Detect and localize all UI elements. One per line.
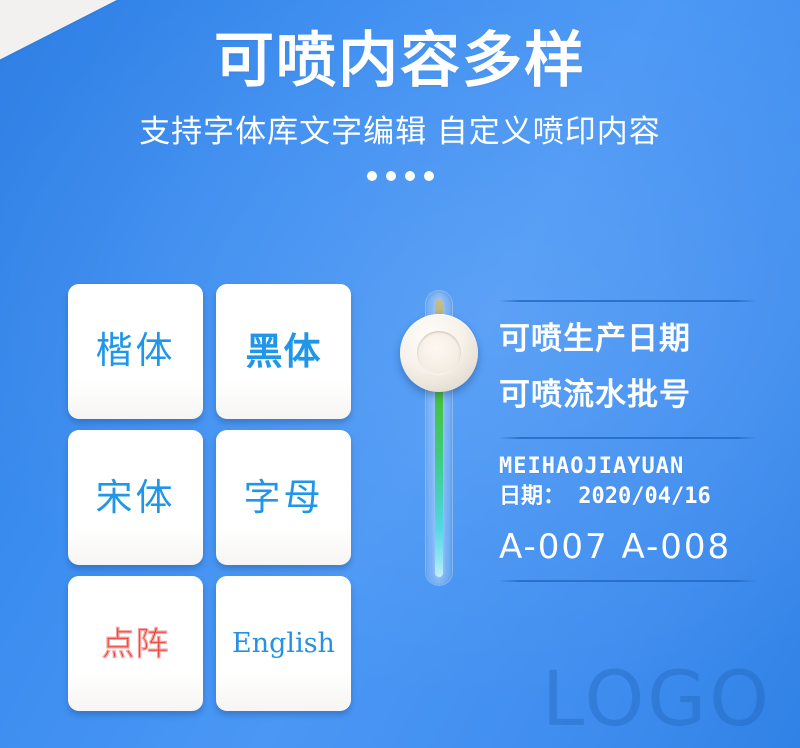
font-card-label: English [232, 630, 335, 657]
font-card-songti[interactable]: 宋体 [68, 430, 203, 565]
font-card-english[interactable]: English [216, 576, 351, 711]
info-headline-line1: 可喷生产日期 [499, 319, 757, 358]
dot-separator [0, 171, 800, 181]
separator-dot [367, 171, 377, 181]
font-card-label: 点阵 [102, 627, 170, 660]
font-card-label: 楷体 [96, 333, 176, 370]
divider-top [499, 300, 757, 302]
info-headline-line2: 可喷流水批号 [499, 375, 757, 414]
sample-date-text: 日期： 2020/04/16 [499, 482, 757, 512]
font-card-label: 字母 [244, 479, 324, 516]
font-card-label: 黑体 [246, 333, 322, 370]
page-subtitle: 支持字体库文字编辑 自定义喷印内容 [0, 112, 800, 152]
divider-middle [499, 437, 757, 439]
font-card-kaiti[interactable]: 楷体 [68, 284, 203, 419]
font-sample-grid: 楷体 黑体 宋体 字母 点阵 English [68, 284, 358, 711]
separator-dot [405, 171, 415, 181]
font-card-heiti[interactable]: 黑体 [216, 284, 351, 419]
font-card-dianzhen[interactable]: 点阵 [68, 576, 203, 711]
divider-bottom [499, 580, 757, 582]
sample-code-text: MEIHAOJIAYUAN [499, 452, 757, 482]
page-title: 可喷内容多样 [0, 26, 800, 96]
font-card-zimu[interactable]: 字母 [216, 430, 351, 565]
slider-knob-handle[interactable] [400, 314, 478, 392]
promo-banner: 可喷内容多样 支持字体库文字编辑 自定义喷印内容 楷体 黑体 宋体 字母 点阵 … [0, 0, 800, 748]
vertical-slider[interactable] [426, 291, 452, 585]
header: 可喷内容多样 支持字体库文字编辑 自定义喷印内容 [0, 26, 800, 181]
logo-watermark: LOGO [542, 654, 772, 744]
info-panel: 可喷生产日期 可喷流水批号 MEIHAOJIAYUAN 日期： 2020/04/… [499, 300, 757, 582]
separator-dot [386, 171, 396, 181]
font-card-label: 宋体 [96, 479, 176, 516]
sample-batch-text: A-007 A-008 [499, 526, 757, 568]
dot-matrix-sample: MEIHAOJIAYUAN 日期： 2020/04/16 [499, 452, 757, 512]
separator-dot [424, 171, 434, 181]
